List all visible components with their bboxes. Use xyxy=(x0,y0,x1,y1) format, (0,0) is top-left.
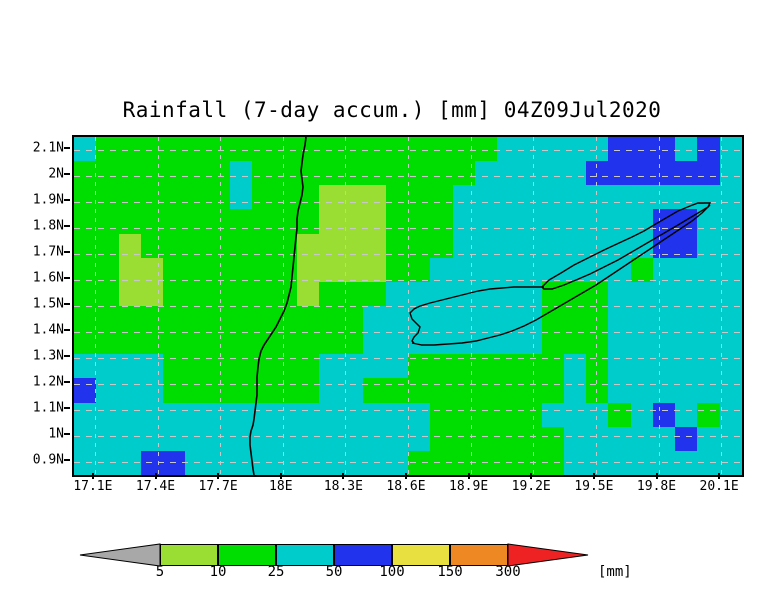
heatmap-cell xyxy=(208,451,230,475)
heatmap-cell xyxy=(720,209,742,234)
heatmap-cell xyxy=(497,209,519,234)
heatmap-cell xyxy=(519,378,542,403)
heatmap-cell xyxy=(163,403,185,427)
heatmap-cell xyxy=(542,234,564,258)
heatmap-cell xyxy=(475,354,497,378)
heatmap-cell xyxy=(208,234,230,258)
y-tick-label: 1.5N xyxy=(33,297,64,312)
heatmap-cell xyxy=(208,427,230,451)
y-tick-label: 0.9N xyxy=(33,453,64,468)
heatmap-cell xyxy=(274,282,297,306)
heatmap-cell xyxy=(631,427,653,451)
heatmap-cell xyxy=(608,306,631,330)
heatmap-cell xyxy=(363,234,386,258)
heatmap-cell xyxy=(631,137,653,161)
x-tick-label: 18.9E xyxy=(449,479,488,494)
heatmap-cell xyxy=(675,451,697,475)
heatmap-cell xyxy=(542,378,564,403)
heatmap-cell xyxy=(675,161,697,185)
heatmap-cell xyxy=(475,137,497,161)
y-tick-mark xyxy=(64,355,70,357)
heatmap-cell xyxy=(408,234,430,258)
heatmap-cell xyxy=(519,234,542,258)
heatmap-cell xyxy=(252,161,274,185)
heatmap-cell xyxy=(363,282,386,306)
heatmap-cell xyxy=(274,161,297,185)
heatmap-cell xyxy=(430,258,453,282)
heatmap-cell xyxy=(141,378,163,403)
heatmap-cell xyxy=(497,161,519,185)
heatmap-cell xyxy=(96,451,119,475)
heatmap-cell xyxy=(297,234,319,258)
heatmap-cell xyxy=(653,451,675,475)
y-tick-mark xyxy=(64,433,70,435)
heatmap-cell xyxy=(208,185,230,209)
heatmap-cell xyxy=(363,258,386,282)
heatmap-cell xyxy=(564,234,586,258)
heatmap-cell xyxy=(319,209,341,234)
heatmap-cell xyxy=(363,427,386,451)
heatmap-cell xyxy=(408,258,430,282)
heatmap-cell xyxy=(274,209,297,234)
heatmap-cell xyxy=(119,330,141,354)
heatmap-cell xyxy=(497,185,519,209)
heatmap-cell xyxy=(653,427,675,451)
heatmap-cell xyxy=(319,185,341,209)
heatmap-cell xyxy=(608,330,631,354)
colorbar-tick-label: 100 xyxy=(379,564,404,580)
heatmap-cell xyxy=(475,330,497,354)
heatmap-cell xyxy=(408,209,430,234)
heatmap-cell xyxy=(141,403,163,427)
heatmap-cell xyxy=(720,137,742,161)
heatmap-cell xyxy=(586,282,608,306)
y-axis-labels: 2.1N2N1.9N1.8N1.7N1.6N1.5N1.4N1.3N1.2N1.… xyxy=(0,135,64,473)
heatmap-cell xyxy=(564,137,586,161)
heatmap-cell xyxy=(475,282,497,306)
heatmap-cell xyxy=(141,330,163,354)
heatmap-cell xyxy=(542,330,564,354)
heatmap-cell xyxy=(163,185,185,209)
y-tick-label: 2N xyxy=(48,167,64,182)
heatmap-cell xyxy=(230,354,252,378)
heatmap-cell xyxy=(163,378,185,403)
colorbar-tick-label: 25 xyxy=(268,564,285,580)
colorbar-segment[interactable] xyxy=(392,544,450,566)
heatmap-cell xyxy=(386,427,408,451)
y-tick-label: 1.2N xyxy=(33,375,64,390)
heatmap-cell xyxy=(720,427,742,451)
heatmap-cell xyxy=(408,354,430,378)
heatmap-cell xyxy=(274,403,297,427)
heatmap-cell xyxy=(363,137,386,161)
heatmap-cell xyxy=(608,354,631,378)
map-plot-area[interactable] xyxy=(72,135,744,477)
colorbar-under-arrow xyxy=(80,544,160,566)
heatmap-cell xyxy=(430,427,453,451)
heatmap-cell xyxy=(586,258,608,282)
heatmap-cell xyxy=(542,354,564,378)
colorbar[interactable]: 5102550100150300[mm] xyxy=(0,534,784,594)
heatmap-cell xyxy=(74,258,96,282)
heatmap-cell xyxy=(430,451,453,475)
heatmap-cell xyxy=(96,306,119,330)
heatmap-cell xyxy=(96,403,119,427)
heatmap-cell xyxy=(274,258,297,282)
heatmap-cell xyxy=(386,282,408,306)
heatmap-cell xyxy=(341,378,363,403)
heatmap-cell xyxy=(319,282,341,306)
heatmap-cell xyxy=(564,330,586,354)
heatmap-cell xyxy=(631,209,653,234)
heatmap-cell xyxy=(720,354,742,378)
heatmap-cell xyxy=(252,209,274,234)
heatmap-cell xyxy=(497,403,519,427)
heatmap-cell xyxy=(386,403,408,427)
heatmap-cell xyxy=(74,185,96,209)
heatmap-cell xyxy=(163,209,185,234)
heatmap-cell xyxy=(119,209,141,234)
heatmap-cell xyxy=(341,330,363,354)
heatmap-cell xyxy=(720,234,742,258)
heatmap-cell xyxy=(96,258,119,282)
heatmap-cell xyxy=(608,185,631,209)
heatmap-cell xyxy=(608,161,631,185)
heatmap-cell xyxy=(675,427,697,451)
heatmap-cell xyxy=(119,137,141,161)
heatmap-cell xyxy=(230,306,252,330)
heatmap-cell xyxy=(430,161,453,185)
heatmap-cell xyxy=(119,378,141,403)
heatmap-cell xyxy=(319,427,341,451)
heatmap-cell xyxy=(697,234,720,258)
heatmap-cell xyxy=(96,234,119,258)
heatmap-cell xyxy=(653,330,675,354)
heatmap-cell xyxy=(119,282,141,306)
heatmap-cell xyxy=(675,234,697,258)
y-tick-label: 1.3N xyxy=(33,349,64,364)
heatmap-cell xyxy=(564,427,586,451)
heatmap-cell xyxy=(341,427,363,451)
heatmap-cell xyxy=(586,234,608,258)
heatmap-cell xyxy=(297,258,319,282)
colorbar-segment[interactable] xyxy=(160,544,218,566)
heatmap-cell xyxy=(408,185,430,209)
heatmap-cell xyxy=(519,282,542,306)
heatmap-cell xyxy=(74,234,96,258)
heatmap-cell xyxy=(675,306,697,330)
heatmap-cell xyxy=(230,451,252,475)
heatmap-cell xyxy=(519,185,542,209)
heatmap-cell xyxy=(74,403,96,427)
heatmap-cell xyxy=(96,282,119,306)
heatmap-cell xyxy=(341,161,363,185)
heatmap-cell xyxy=(697,282,720,306)
heatmap-cell xyxy=(141,282,163,306)
heatmap-cell xyxy=(74,451,96,475)
heatmap-cell xyxy=(119,161,141,185)
heatmap-cell xyxy=(274,451,297,475)
x-tick-label: 17.7E xyxy=(199,479,238,494)
heatmap-cell xyxy=(497,282,519,306)
heatmap-cell xyxy=(720,258,742,282)
heatmap-cell xyxy=(586,330,608,354)
heatmap-cell xyxy=(230,330,252,354)
heatmap-cell xyxy=(96,330,119,354)
heatmap-cell xyxy=(163,306,185,330)
heatmap-cell xyxy=(74,209,96,234)
heatmap-cell xyxy=(475,378,497,403)
heatmap-cell xyxy=(297,137,319,161)
heatmap-cell xyxy=(697,330,720,354)
heatmap-cell xyxy=(341,185,363,209)
heatmap-cell xyxy=(363,330,386,354)
heatmap-cell xyxy=(141,137,163,161)
heatmap-cell xyxy=(653,209,675,234)
heatmap-cell xyxy=(697,209,720,234)
heatmap-cell xyxy=(408,282,430,306)
heatmap-cell xyxy=(341,258,363,282)
heatmap-cell xyxy=(453,209,475,234)
x-tick-label: 18.3E xyxy=(324,479,363,494)
heatmap-cell xyxy=(542,403,564,427)
heatmap-cell xyxy=(542,306,564,330)
heatmap-cell xyxy=(230,258,252,282)
heatmap-cell xyxy=(608,427,631,451)
colorbar-segment[interactable] xyxy=(276,544,334,566)
heatmap-cell xyxy=(430,137,453,161)
heatmap-cell xyxy=(185,185,208,209)
heatmap-cell xyxy=(653,137,675,161)
heatmap-cell xyxy=(675,403,697,427)
heatmap-cell xyxy=(475,451,497,475)
heatmap-cell xyxy=(141,209,163,234)
heatmap-cell xyxy=(252,234,274,258)
heatmap-cell xyxy=(252,354,274,378)
heatmap-cell xyxy=(608,258,631,282)
heatmap-cell xyxy=(185,306,208,330)
heatmap-cell xyxy=(185,330,208,354)
heatmap-cell xyxy=(74,427,96,451)
y-tick-label: 2.1N xyxy=(33,141,64,156)
colorbar-tick-label: 50 xyxy=(326,564,343,580)
heatmap-cell xyxy=(363,378,386,403)
heatmap-cell xyxy=(185,403,208,427)
heatmap-cell xyxy=(163,258,185,282)
heatmap-cell xyxy=(96,137,119,161)
heatmap-cell xyxy=(208,258,230,282)
heatmap-cell xyxy=(564,354,586,378)
heatmap-cell xyxy=(74,354,96,378)
heatmap-cell xyxy=(519,354,542,378)
heatmap-cell xyxy=(230,282,252,306)
colorbar-units-label: [mm] xyxy=(598,564,632,580)
heatmap-cell xyxy=(319,306,341,330)
heatmap-cell xyxy=(274,354,297,378)
heatmap-cell xyxy=(230,209,252,234)
heatmap-cell xyxy=(141,185,163,209)
colorbar-segment[interactable] xyxy=(450,544,508,566)
heatmap-cell xyxy=(297,282,319,306)
heatmap-cell xyxy=(542,185,564,209)
heatmap-cell xyxy=(386,185,408,209)
heatmap-cell xyxy=(653,306,675,330)
heatmap-cell xyxy=(586,161,608,185)
heatmap-cell xyxy=(720,378,742,403)
heatmap-cell xyxy=(631,451,653,475)
heatmap-cell xyxy=(675,330,697,354)
colorbar-tick-label: 10 xyxy=(210,564,227,580)
grads-rainfall-plot: Rainfall (7-day accum.) [mm] 04Z09Jul202… xyxy=(0,0,784,612)
heatmap-cell xyxy=(675,282,697,306)
heatmap-cell xyxy=(141,427,163,451)
heatmap-cell xyxy=(653,234,675,258)
heatmap-cell xyxy=(608,378,631,403)
heatmap-cell xyxy=(163,451,185,475)
heatmap-cell xyxy=(96,354,119,378)
heatmap-cell xyxy=(675,137,697,161)
heatmap-cell xyxy=(475,306,497,330)
x-tick-label: 18E xyxy=(269,479,292,494)
heatmap-cell xyxy=(297,185,319,209)
heatmap-cell xyxy=(141,354,163,378)
heatmap-cell xyxy=(141,161,163,185)
heatmap-cell xyxy=(608,234,631,258)
heatmap-cell xyxy=(497,258,519,282)
heatmap-cell xyxy=(297,427,319,451)
heatmap-cell xyxy=(519,306,542,330)
colorbar-segments[interactable] xyxy=(160,544,508,566)
heatmap-cell xyxy=(430,209,453,234)
heatmap-cell xyxy=(453,185,475,209)
heatmap-cell xyxy=(386,258,408,282)
heatmap-cell xyxy=(119,403,141,427)
heatmap-cell xyxy=(453,451,475,475)
heatmap-cell xyxy=(430,185,453,209)
heatmap-cell xyxy=(675,354,697,378)
heatmap-cell xyxy=(475,161,497,185)
heatmap-cell xyxy=(163,282,185,306)
heatmap-cell xyxy=(564,403,586,427)
heatmap-cell xyxy=(586,306,608,330)
heatmap-cell xyxy=(185,354,208,378)
heatmap-cell xyxy=(475,209,497,234)
heatmap-cell xyxy=(185,451,208,475)
heatmap-cell xyxy=(230,161,252,185)
y-tick-mark xyxy=(64,381,70,383)
heatmap-cell xyxy=(542,209,564,234)
heatmap-cell xyxy=(453,137,475,161)
heatmap-cell xyxy=(608,403,631,427)
heatmap-cell xyxy=(208,137,230,161)
y-tick-label: 1.1N xyxy=(33,401,64,416)
x-tick-label: 19.2E xyxy=(512,479,551,494)
heatmap-cell xyxy=(408,137,430,161)
heatmap-cell xyxy=(230,403,252,427)
heatmap-cell xyxy=(430,330,453,354)
heatmap-cell xyxy=(141,451,163,475)
heatmap-cell xyxy=(497,306,519,330)
colorbar-segment[interactable] xyxy=(334,544,392,566)
heatmap-cell xyxy=(586,451,608,475)
heatmap-cell xyxy=(653,161,675,185)
heatmap-cell xyxy=(341,306,363,330)
colorbar-tick-label: 300 xyxy=(495,564,520,580)
heatmap-cell xyxy=(631,258,653,282)
heatmap-cell xyxy=(274,137,297,161)
heatmap-cell xyxy=(297,451,319,475)
x-tick-label: 18.6E xyxy=(386,479,425,494)
heatmap-cell xyxy=(608,209,631,234)
heatmap-cell xyxy=(386,330,408,354)
heatmap-cell xyxy=(163,161,185,185)
heatmap-cell xyxy=(141,258,163,282)
heatmap-cell xyxy=(252,378,274,403)
heatmap-cell xyxy=(319,403,341,427)
heatmap-cell xyxy=(119,306,141,330)
heatmap-cells xyxy=(74,137,742,475)
heatmap-cell xyxy=(185,378,208,403)
heatmap-cell xyxy=(363,209,386,234)
heatmap-cell xyxy=(608,451,631,475)
heatmap-cell xyxy=(697,427,720,451)
colorbar-segment[interactable] xyxy=(218,544,276,566)
heatmap-cell xyxy=(631,354,653,378)
heatmap-cell xyxy=(341,209,363,234)
heatmap-cell xyxy=(453,161,475,185)
heatmap-cell xyxy=(697,258,720,282)
heatmap-cell xyxy=(697,403,720,427)
y-tick-label: 1.8N xyxy=(33,219,64,234)
heatmap-cell xyxy=(274,234,297,258)
heatmap-cell xyxy=(163,354,185,378)
heatmap-cell xyxy=(497,234,519,258)
heatmap-cell xyxy=(497,137,519,161)
heatmap-cell xyxy=(697,185,720,209)
heatmap-cell xyxy=(208,209,230,234)
heatmap-cell xyxy=(185,209,208,234)
heatmap-cell xyxy=(720,451,742,475)
heatmap-cell xyxy=(319,330,341,354)
heatmap-cell xyxy=(475,427,497,451)
heatmap-cell xyxy=(297,330,319,354)
heatmap-cell xyxy=(341,354,363,378)
heatmap-cell xyxy=(341,234,363,258)
heatmap-cell xyxy=(564,282,586,306)
heatmap-cell xyxy=(208,403,230,427)
heatmap-cell xyxy=(564,306,586,330)
colorbar-over-arrow xyxy=(508,544,588,566)
heatmap-cell xyxy=(163,137,185,161)
heatmap-cell xyxy=(430,282,453,306)
heatmap-cell xyxy=(631,161,653,185)
y-tick-label: 1.9N xyxy=(33,193,64,208)
heatmap-cell xyxy=(564,451,586,475)
heatmap-cell xyxy=(653,282,675,306)
heatmap-cell xyxy=(542,282,564,306)
heatmap-cell xyxy=(74,378,96,403)
heatmap-cell xyxy=(675,209,697,234)
heatmap-cell xyxy=(230,137,252,161)
heatmap-cell xyxy=(363,185,386,209)
heatmap-cell xyxy=(631,330,653,354)
heatmap-cell xyxy=(497,378,519,403)
y-tick-mark xyxy=(64,407,70,409)
heatmap-cell xyxy=(230,234,252,258)
heatmap-cell xyxy=(252,185,274,209)
heatmap-cell xyxy=(163,427,185,451)
heatmap-cell xyxy=(586,403,608,427)
